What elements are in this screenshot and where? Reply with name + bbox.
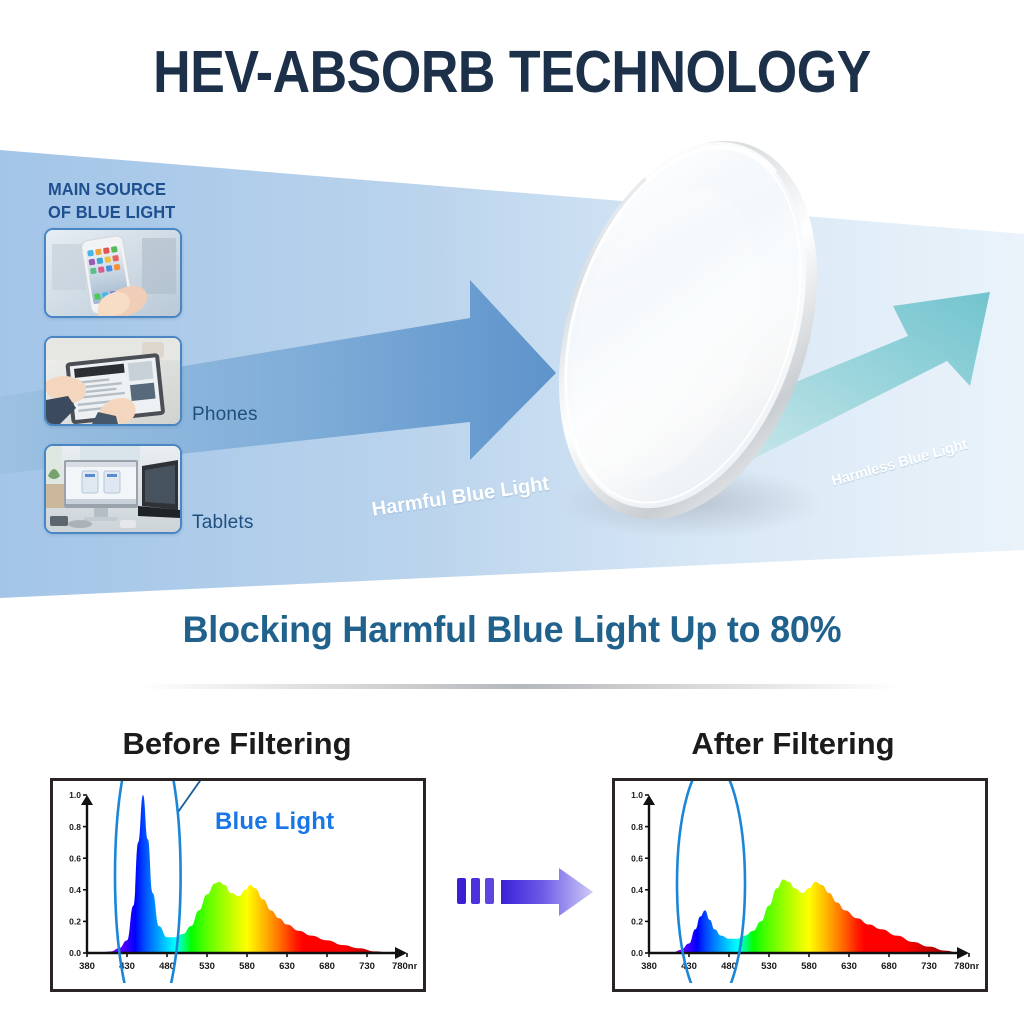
before-chart-title: Before Filtering: [52, 726, 422, 762]
page-title: HEV-ABSORB TECHNOLOGY: [61, 38, 962, 106]
phone-in-hand-photo: [46, 230, 180, 316]
source-thumbnail-monitors[interactable]: [44, 444, 182, 534]
svg-text:1.0: 1.0: [69, 790, 81, 800]
svg-text:730: 730: [359, 961, 375, 972]
after-chart-title: After Filtering: [608, 726, 978, 762]
transition-arrow: [455, 862, 615, 928]
tablet-in-hands-photo: [46, 338, 180, 424]
main-source-heading: MAIN SOURCE OF BLUE LIGHT: [48, 178, 264, 224]
svg-text:780nm: 780nm: [392, 961, 417, 972]
svg-text:680: 680: [881, 961, 897, 972]
svg-text:730: 730: [921, 961, 937, 972]
svg-text:0.6: 0.6: [631, 853, 643, 863]
subheading: Blocking Harmful Blue Light Up to 80%: [15, 609, 1008, 651]
hero-section: MAIN SOURCE OF BLUE LIGHT: [0, 130, 1024, 610]
svg-text:0.6: 0.6: [69, 853, 81, 863]
desktop-monitor-photo: [46, 446, 180, 532]
section-divider: [140, 684, 900, 689]
svg-text:630: 630: [279, 961, 295, 972]
blue-light-annotation: Blue Light: [215, 808, 334, 836]
svg-text:680: 680: [319, 961, 335, 972]
svg-text:780nm: 780nm: [954, 961, 979, 972]
svg-text:0.2: 0.2: [69, 917, 81, 927]
svg-text:0.8: 0.8: [631, 822, 643, 832]
svg-text:0.8: 0.8: [69, 822, 81, 832]
svg-text:1.0: 1.0: [631, 790, 643, 800]
source-thumbnail-tablets[interactable]: [44, 336, 182, 426]
svg-text:530: 530: [199, 961, 215, 972]
svg-text:530: 530: [761, 961, 777, 972]
svg-text:0.4: 0.4: [69, 885, 81, 895]
svg-text:630: 630: [841, 961, 857, 972]
svg-text:0.0: 0.0: [69, 948, 81, 958]
source-label-tablets: Tablets: [192, 512, 254, 534]
after-filtering-chart: 380430480530580630680730780nm0.00.20.40.…: [612, 778, 988, 992]
source-thumbnail-phones[interactable]: [44, 228, 182, 318]
infographic-root: HEV-ABSORB TECHNOLOGY: [0, 0, 1024, 1024]
svg-text:0.4: 0.4: [631, 885, 643, 895]
svg-text:380: 380: [641, 961, 657, 972]
svg-text:580: 580: [239, 961, 255, 972]
svg-text:0.2: 0.2: [631, 917, 643, 927]
source-label-phones: Phones: [192, 404, 258, 426]
svg-text:380: 380: [79, 961, 95, 972]
svg-text:430: 430: [681, 961, 697, 972]
svg-text:580: 580: [801, 961, 817, 972]
svg-text:0.0: 0.0: [631, 948, 643, 958]
